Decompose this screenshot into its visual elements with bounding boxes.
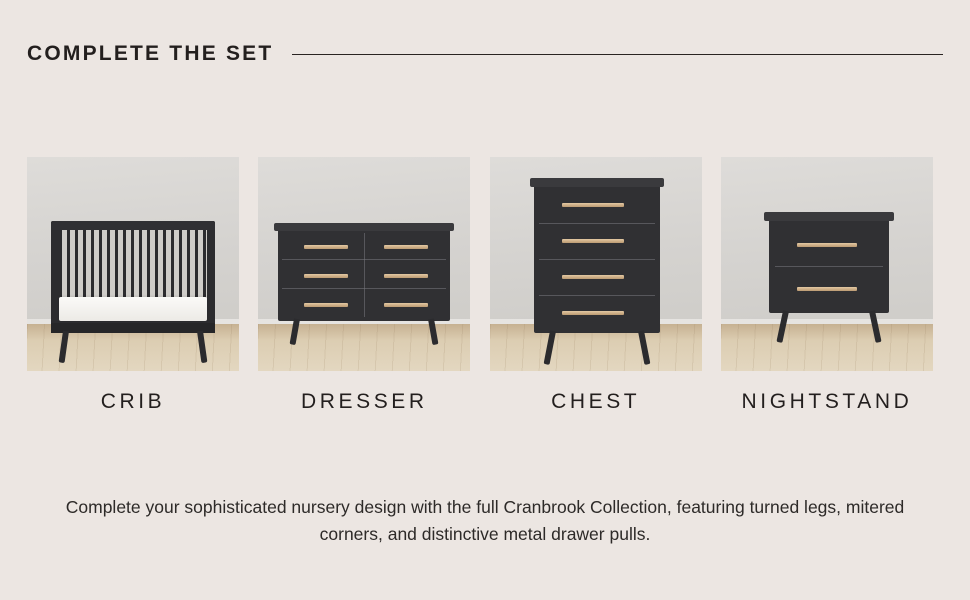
dresser-case [278, 229, 450, 321]
product-image-chest[interactable] [490, 157, 702, 371]
product-image-crib[interactable] [27, 157, 239, 371]
dresser-top-panel [274, 223, 454, 231]
nightstand-case [769, 219, 889, 313]
product-image-dresser[interactable] [258, 157, 470, 371]
nightstand-top-panel [764, 212, 894, 221]
collection-description: Complete your sophisticated nursery desi… [65, 494, 905, 547]
dresser-center-divider [364, 233, 365, 317]
chest-drawer-divider-1 [539, 223, 655, 224]
crib-interior [59, 229, 207, 299]
product-label-dresser: DRESSER [301, 391, 428, 412]
product-card-nightstand[interactable]: NIGHTSTAND [721, 157, 933, 412]
crib-frame [51, 221, 215, 333]
nightstand-pull-2 [797, 287, 857, 291]
chest-drawer-divider-3 [539, 295, 655, 296]
crib-mattress [59, 297, 207, 321]
product-label-crib: CRIB [101, 391, 166, 412]
product-image-nightstand[interactable] [721, 157, 933, 371]
room-floor [258, 324, 470, 371]
product-card-dresser[interactable]: DRESSER [258, 157, 470, 412]
chest-pull-1 [562, 203, 624, 207]
product-grid: CRIB DRESSER [27, 157, 933, 412]
room-floor [721, 324, 933, 371]
chest-top-panel [530, 178, 664, 187]
product-card-crib[interactable]: CRIB [27, 157, 239, 412]
page-title: COMPLETE THE SET [27, 43, 273, 64]
crib-bottom-rail [51, 323, 215, 333]
chest-case [534, 185, 660, 333]
dresser-pull-6 [384, 303, 428, 307]
crib-slats [59, 229, 207, 299]
chest-pull-3 [562, 275, 624, 279]
nightstand-drawer-divider-1 [775, 266, 883, 267]
product-label-chest: CHEST [551, 391, 640, 412]
title-divider-rule [292, 54, 943, 55]
product-card-chest[interactable]: CHEST [490, 157, 702, 412]
dresser-pull-4 [384, 274, 428, 278]
section-header: COMPLETE THE SET [27, 36, 943, 70]
product-label-nightstand: NIGHTSTAND [742, 391, 913, 412]
chest-pull-4 [562, 311, 624, 315]
chest-drawer-divider-2 [539, 259, 655, 260]
dresser-pull-2 [384, 245, 428, 249]
nightstand-pull-1 [797, 243, 857, 247]
dresser-pull-1 [304, 245, 348, 249]
chest-pull-2 [562, 239, 624, 243]
crib-top-rail [51, 221, 215, 230]
dresser-pull-5 [304, 303, 348, 307]
dresser-pull-3 [304, 274, 348, 278]
